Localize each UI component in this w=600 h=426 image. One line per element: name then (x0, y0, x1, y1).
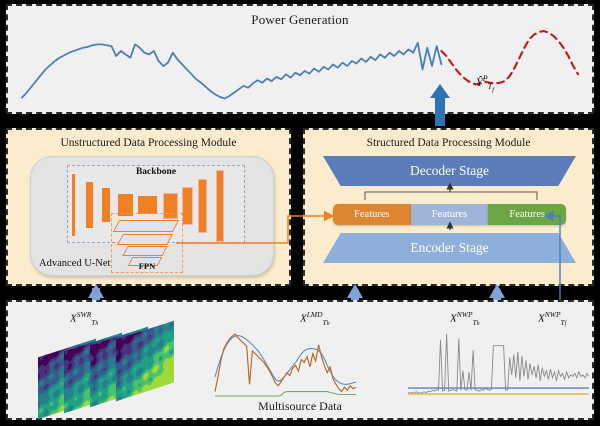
multisource-data-panel: Multisource Data XSWRTh XLMDTh XNWPTh XN… (6, 300, 594, 420)
power-generation-panel: Power Generation ŶPTf (6, 4, 594, 114)
backbone-bar-4 (138, 196, 157, 214)
label-swr: XSWRTh (70, 310, 98, 327)
lmd-series-blue (215, 336, 356, 385)
nwp-timeseries-chart (406, 330, 591, 402)
fpn-plate-0 (113, 220, 179, 232)
lmd-series-brown (215, 334, 356, 392)
label-lmd: XLMDTh (300, 310, 330, 327)
swr-heatmap-stack (38, 330, 188, 412)
arrow-lmd-to-structured (347, 284, 363, 300)
prediction-label: ŶPTf (476, 74, 494, 94)
swr-heatmap-frame-3 (116, 321, 174, 402)
yhat-sub: Tf (488, 82, 494, 91)
fpn-plate-1 (117, 234, 173, 245)
structured-internal-arrows (305, 130, 592, 284)
backbone-bar-7 (198, 179, 207, 233)
label-nwp-hist: XNWPTh (450, 310, 480, 327)
power-generation-chart (8, 6, 592, 112)
forecast-line (441, 31, 578, 84)
fpn-label: FPN (112, 261, 182, 271)
unstructured-data-processing-module: Unstructured Data Processing Module Back… (6, 128, 291, 286)
history-line (22, 43, 442, 99)
advanced-unet-label: Advanced U-Net (39, 258, 110, 269)
yhat-base: Ŷ (476, 75, 483, 89)
label-nwp-fut: XNWPTf (538, 310, 566, 327)
backbone-bar-8 (216, 170, 224, 242)
lmd-series-green (215, 392, 356, 396)
fpn-box: FPN (111, 213, 183, 273)
structured-data-processing-module: Structured Data Processing Module Decode… (303, 128, 594, 286)
unstructured-module-title: Unstructured Data Processing Module (8, 137, 289, 149)
lmd-timeseries-chart (213, 330, 358, 402)
backbone-bar-6 (182, 187, 193, 225)
nwp-series-gray (408, 334, 589, 393)
backbone-bar-1 (86, 182, 93, 228)
arrow-swr-to-unstructured (88, 284, 104, 300)
advanced-unet-card: Backbone FPN Advanced U-Net (30, 156, 274, 276)
backbone-bar-0 (72, 174, 75, 236)
arrow-nwp-hist-to-structured (489, 284, 505, 300)
fpn-plate-2 (122, 246, 167, 256)
backbone-bar-2 (102, 188, 110, 222)
